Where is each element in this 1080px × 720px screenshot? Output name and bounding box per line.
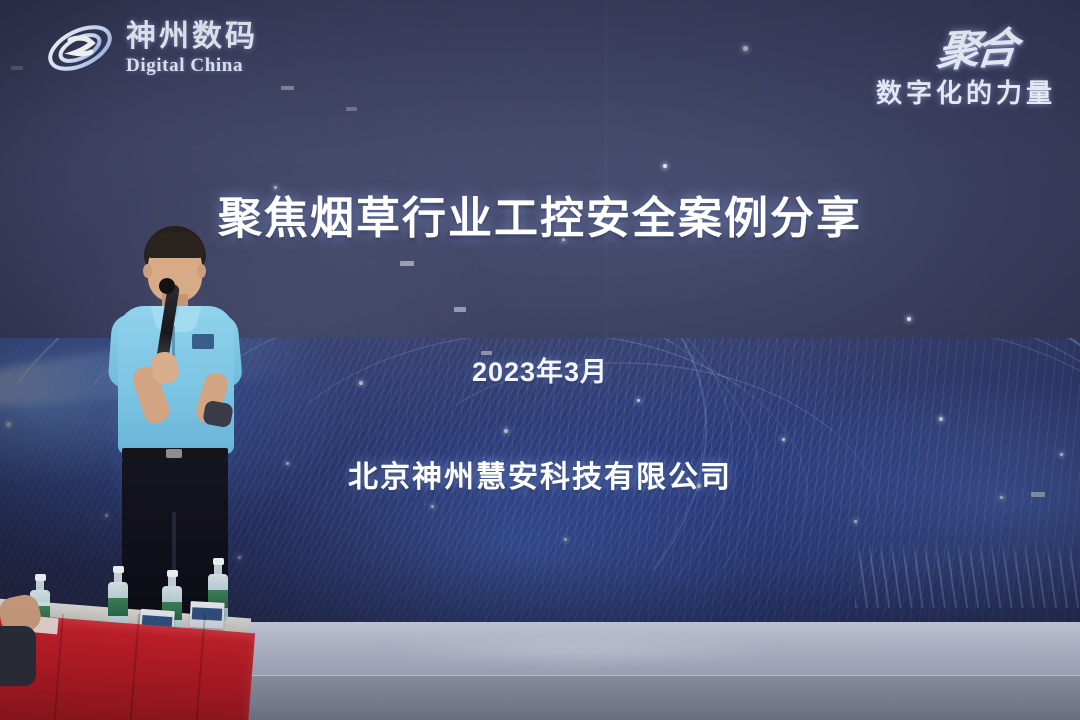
presenter-belt-buckle [166, 449, 182, 458]
event-logo: 聚合 数字化的力量 [876, 16, 1056, 110]
event-logo-brush-text: 聚合 [934, 14, 1017, 79]
bottle-cap [35, 574, 46, 581]
logo-chinese-name: 神州数码 [126, 22, 258, 52]
bottle-cap [113, 566, 124, 573]
front-row-table [0, 556, 270, 720]
water-bottle [108, 566, 128, 630]
presenter-chest-logo-badge [192, 334, 214, 349]
name-card [189, 601, 224, 629]
conference-stage-photo: 神州数码 Digital China 聚合 数字化的力量 聚焦烟草行业工控安全案… [0, 0, 1080, 720]
presenter-ear-right [197, 264, 206, 278]
presenter-hand-right-clicker [202, 400, 234, 428]
bottle-label [108, 598, 128, 616]
bottle-neck [168, 577, 176, 586]
bottle-cap [213, 558, 224, 565]
presenter-ear-left [143, 264, 152, 278]
event-logo-tagline: 数字化的力量 [876, 73, 1056, 110]
bottle-neck [114, 573, 122, 582]
presenter-hair-top [146, 232, 204, 258]
bottle-neck [214, 565, 222, 574]
stage-light-reflection [302, 630, 864, 670]
logo-english-name: Digital China [126, 56, 258, 75]
name-card-band [192, 607, 223, 621]
digital-china-swirl-logo-icon [44, 18, 116, 78]
digital-china-logo: 神州数码 Digital China [44, 18, 258, 78]
bottle-cap [167, 570, 178, 577]
attendee-shoulder [0, 626, 36, 686]
bottle-neck [36, 581, 44, 590]
